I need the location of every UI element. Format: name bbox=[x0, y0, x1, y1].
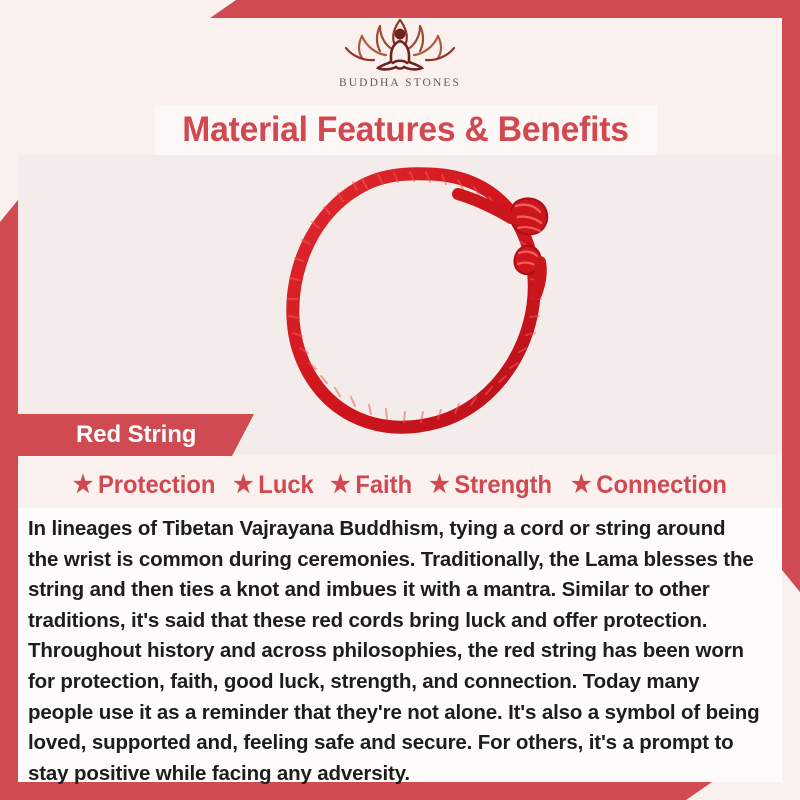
title-band: Material Features & Benefits bbox=[155, 105, 657, 155]
benefit-label: Luck bbox=[258, 471, 313, 500]
benefit-item-connection: ★ Connection bbox=[566, 471, 733, 500]
star-icon: ★ bbox=[571, 473, 591, 497]
red-string-ribbon: Red String bbox=[18, 414, 254, 456]
star-icon: ★ bbox=[72, 473, 92, 497]
brand-header: BUDDHA STONES bbox=[0, 0, 800, 105]
benefits-row: ★ Protection ★ Luck ★ Faith ★ Strength ★… bbox=[18, 462, 782, 508]
lotus-meditation-icon bbox=[336, 14, 464, 76]
star-icon: ★ bbox=[330, 473, 350, 497]
benefit-item-protection: ★ Protection bbox=[67, 471, 221, 500]
red-braided-string-bracelet-image bbox=[262, 160, 592, 455]
benefit-label: Strength bbox=[454, 471, 552, 500]
benefit-item-luck: ★ Luck bbox=[227, 471, 319, 500]
benefit-label: Connection bbox=[597, 471, 728, 500]
product-photo bbox=[18, 155, 782, 455]
page-title: Material Features & Benefits bbox=[183, 110, 630, 150]
poster-root: BUDDHA STONES Material Features & Benefi… bbox=[0, 0, 800, 800]
decor-bar-left bbox=[0, 200, 18, 800]
benefit-item-strength: ★ Strength bbox=[424, 471, 558, 500]
description-text: In lineages of Tibetan Vajrayana Buddhis… bbox=[28, 514, 760, 789]
description-block: In lineages of Tibetan Vajrayana Buddhis… bbox=[18, 508, 782, 782]
star-icon: ★ bbox=[233, 473, 253, 497]
benefit-item-faith: ★ Faith bbox=[324, 471, 417, 500]
benefit-label: Faith bbox=[355, 471, 412, 500]
star-icon: ★ bbox=[429, 473, 449, 497]
brand-wordmark: BUDDHA STONES bbox=[339, 77, 461, 89]
benefit-label: Protection bbox=[98, 471, 215, 500]
ribbon-label: Red String bbox=[18, 421, 196, 449]
